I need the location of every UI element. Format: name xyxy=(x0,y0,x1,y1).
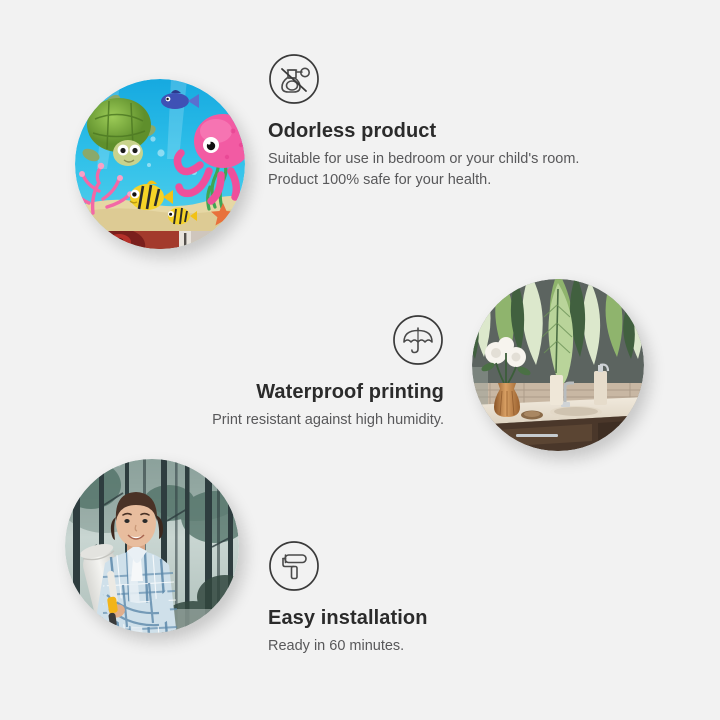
underwater-scene xyxy=(75,79,245,249)
bottom-photo-strip xyxy=(75,231,245,249)
no-odor-spray-bottle-icon xyxy=(268,53,320,105)
umbrella-icon xyxy=(392,314,444,366)
feature-odorless: Odorless product Suitable for use in bed… xyxy=(268,53,608,191)
paint-roller-icon xyxy=(268,540,320,592)
feature-title: Easy installation xyxy=(268,606,568,631)
medallion-forest-installer-image xyxy=(65,459,239,633)
medallion-bathroom-image xyxy=(472,279,644,451)
infographic-page: Odorless product Suitable for use in bed… xyxy=(0,0,720,720)
bathroom-scene xyxy=(472,279,644,451)
feature-description: Print resistant against high humidity. xyxy=(152,410,444,431)
feature-title: Odorless product xyxy=(268,119,608,144)
feature-waterproof: Waterproof printing Print resistant agai… xyxy=(152,314,444,431)
feature-description: Suitable for use in bedroom or your chil… xyxy=(268,149,608,191)
feature-description: Ready in 60 minutes. xyxy=(268,636,568,657)
medallion-underwater-image xyxy=(75,79,245,249)
feature-title: Waterproof printing xyxy=(152,380,444,405)
feature-installation: Easy installation Ready in 60 minutes. xyxy=(268,540,568,657)
forest-scene xyxy=(65,459,239,633)
